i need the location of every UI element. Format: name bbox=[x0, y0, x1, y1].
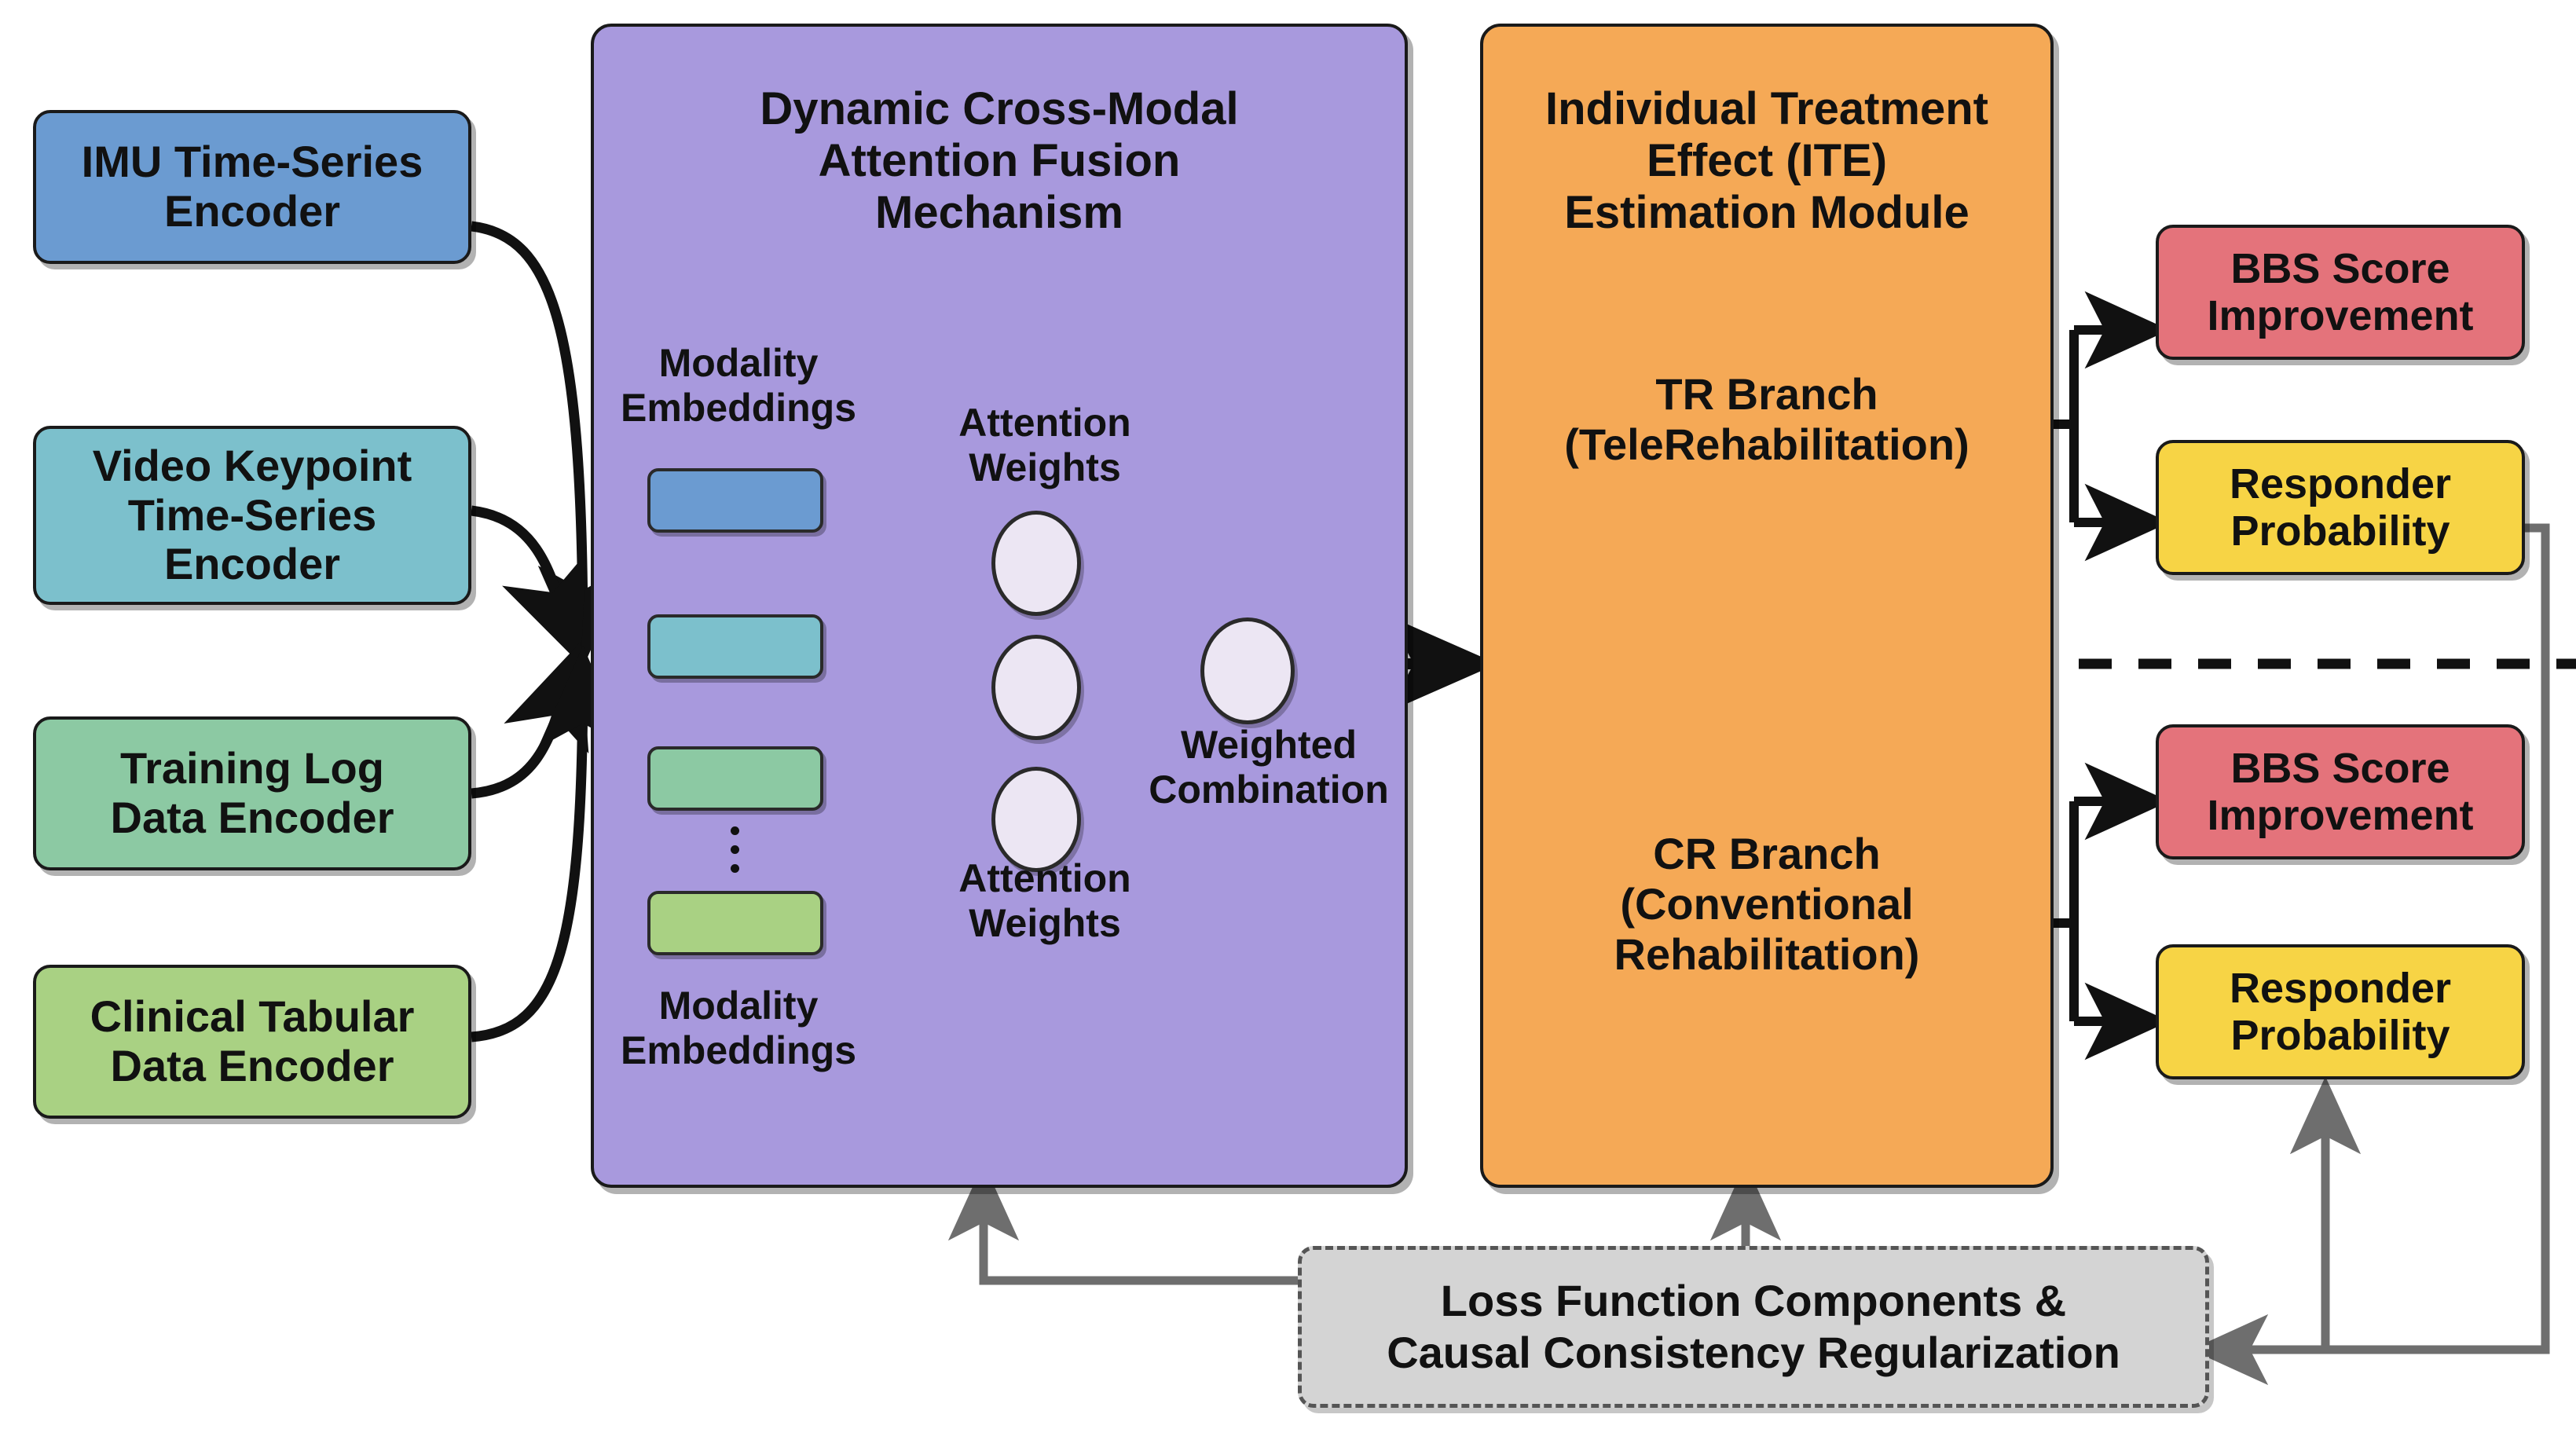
output-responder-cr-label: Responder Probability bbox=[2230, 965, 2451, 1060]
modality-embedding-training[interactable] bbox=[647, 746, 823, 811]
encoder-video-keypoint-label: Video Keypoint Time-Series Encoder bbox=[93, 442, 412, 589]
cr-branch-label: CR Branch (Conventional Rehabilitation) bbox=[1496, 829, 2038, 979]
feedback-outputs-to-loss bbox=[2206, 528, 2545, 1350]
modality-embedding-imu[interactable] bbox=[647, 468, 823, 533]
loss-function-label: Loss Function Components & Causal Consis… bbox=[1387, 1275, 2120, 1379]
weighted-combination-label: Weighted Combination bbox=[1139, 723, 1398, 812]
encoder-training-log[interactable]: Training Log Data Encoder bbox=[33, 716, 471, 870]
encoder-fanin-arrows bbox=[471, 226, 583, 1037]
output-bbs-score-improvement-cr[interactable]: BBS Score Improvement bbox=[2156, 724, 2525, 859]
encoder-imu[interactable]: IMU Time-Series Encoder bbox=[33, 110, 471, 264]
output-responder-probability-cr[interactable]: Responder Probability bbox=[2156, 944, 2525, 1079]
output-bbs-score-improvement-tr[interactable]: BBS Score Improvement bbox=[2156, 225, 2525, 360]
modality-embeddings-label-bottom: Modality Embeddings bbox=[621, 984, 856, 1073]
output-responder-tr-label: Responder Probability bbox=[2230, 460, 2451, 555]
encoder-video-keypoint[interactable]: Video Keypoint Time-Series Encoder bbox=[33, 426, 471, 605]
ite-panel-title: Individual Treatment Effect (ITE) Estima… bbox=[1496, 83, 2038, 239]
output-bbs-cr-label: BBS Score Improvement bbox=[2207, 745, 2473, 840]
output-bbs-tr-label: BBS Score Improvement bbox=[2207, 245, 2473, 340]
attention-weights-label-top: Attention Weights bbox=[919, 401, 1171, 490]
attention-weights-label-bottom: Attention Weights bbox=[919, 856, 1171, 946]
fusion-panel-title: Dynamic Cross-Modal Attention Fusion Mec… bbox=[621, 83, 1378, 239]
weighted-combination-node[interactable] bbox=[1200, 617, 1295, 724]
encoder-imu-label: IMU Time-Series Encoder bbox=[82, 137, 423, 236]
tr-branch-label: TR Branch (TeleRehabilitation) bbox=[1496, 369, 2038, 470]
architecture-diagram: IMU Time-Series Encoder Video Keypoint T… bbox=[0, 0, 2576, 1440]
encoder-training-log-label: Training Log Data Encoder bbox=[111, 744, 394, 842]
encoder-clinical-tabular[interactable]: Clinical Tabular Data Encoder bbox=[33, 965, 471, 1119]
loss-function-box[interactable]: Loss Function Components & Causal Consis… bbox=[1298, 1246, 2209, 1408]
attention-node-1[interactable] bbox=[991, 511, 1081, 616]
modality-embedding-video[interactable] bbox=[647, 614, 823, 679]
encoder-clinical-tabular-label: Clinical Tabular Data Encoder bbox=[90, 992, 415, 1090]
embeddings-ellipsis-icon bbox=[731, 826, 739, 873]
output-responder-probability-tr[interactable]: Responder Probability bbox=[2156, 440, 2525, 575]
modality-embedding-clinical[interactable] bbox=[647, 891, 823, 955]
attention-node-2[interactable] bbox=[991, 635, 1081, 740]
modality-embeddings-label-top: Modality Embeddings bbox=[621, 341, 856, 431]
